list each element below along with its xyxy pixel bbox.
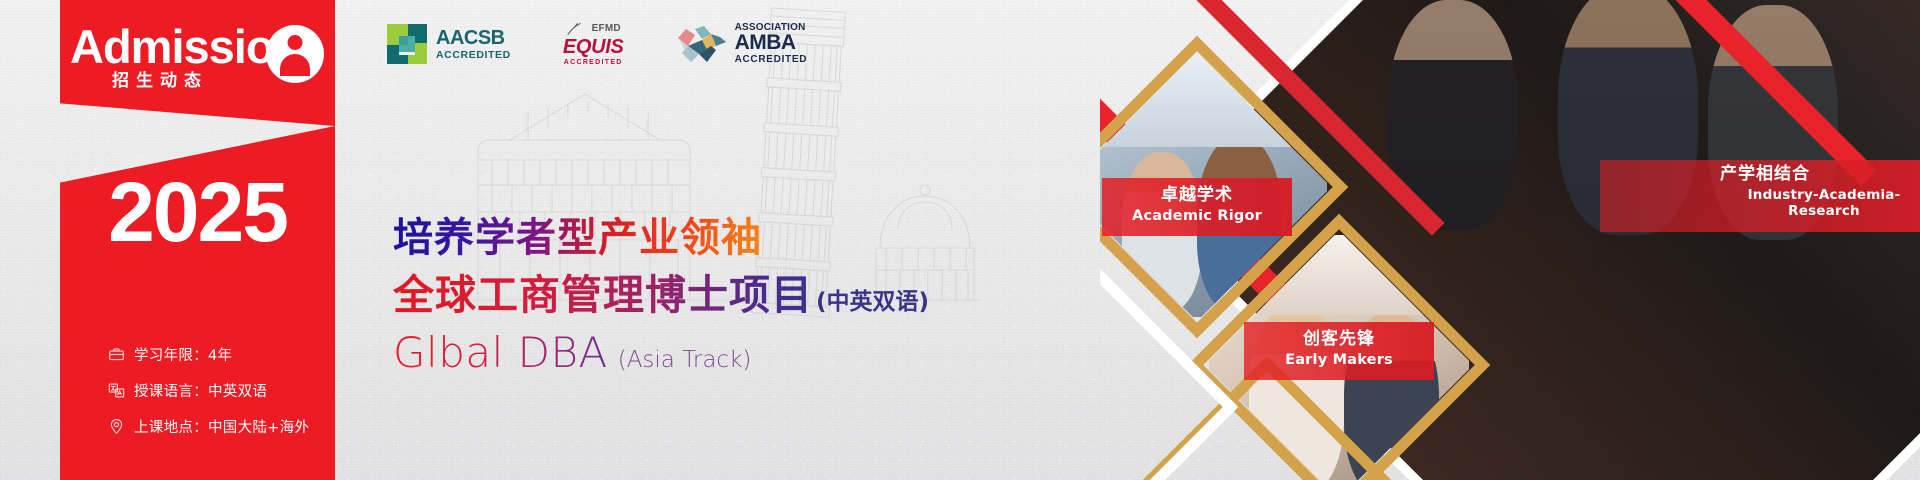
tagline: 培养学者型产业领袖 <box>393 215 929 261</box>
location-pin-icon <box>108 418 125 435</box>
photo-collage: 产学相结合 Industry-Academia-Research 卓越学术 Ac… <box>1100 0 1920 480</box>
program-title-cn-paren: (中英双语) <box>816 282 929 316</box>
program-title-cn: 全球工商管理博士项目 <box>393 271 813 319</box>
aacsb-name: AACSB <box>436 28 511 48</box>
label-industry-cn: 产学相结合 <box>1600 164 1920 185</box>
program-title-en: Glbal DBA <box>393 331 608 375</box>
admission-banner: Admission 招生动态 2025 学习年限：4年 <box>0 0 1920 480</box>
admission-logo: Admission 招生动态 <box>60 22 335 102</box>
program-title-en-sub: (Asia Track) <box>618 347 752 373</box>
info-row-duration: 学习年限：4年 <box>60 336 335 372</box>
label-makers-cn: 创客先锋 <box>1244 329 1434 350</box>
aacsb-sub: ACCREDITED <box>436 50 511 61</box>
headline-block: 培养学者型产业领袖 全球工商管理博士项目 (中英双语) Glbal DBA (A… <box>393 215 929 375</box>
amba-diamond-icon <box>676 24 728 64</box>
left-red-panel: Admission 招生动态 2025 学习年限：4年 <box>60 0 335 480</box>
label-early-makers: 创客先锋 Early Makers <box>1244 329 1434 369</box>
amba-sub: ACCREDITED <box>735 55 808 65</box>
efmd-swoosh-icon <box>566 22 588 36</box>
efmd-name: EFMD <box>592 24 621 34</box>
person-avatar-icon <box>266 25 324 83</box>
accreditation-amba: ASSOCIATION AMBA ACCREDITED <box>676 23 808 65</box>
equis-sub: ACCREDITED <box>564 59 623 66</box>
translate-icon <box>108 382 125 399</box>
equis-name: EQUIS <box>563 37 624 57</box>
info-row-location: 上课地点：中国大陆+海外 <box>60 408 335 444</box>
amba-name: AMBA <box>735 32 808 53</box>
label-industry-academia: 产学相结合 Industry-Academia-Research <box>1600 164 1920 220</box>
title-en-row: Glbal DBA (Asia Track) <box>393 331 929 375</box>
info-text-language: 授课语言：中英双语 <box>134 380 267 401</box>
info-text-location: 上课地点：中国大陆+海外 <box>134 416 309 437</box>
logo-cn-text: 招生动态 <box>112 66 208 91</box>
info-row-language: 授课语言：中英双语 <box>60 372 335 408</box>
year-label: 2025 <box>60 170 335 254</box>
label-academic-cn: 卓越学术 <box>1102 185 1292 206</box>
briefcase-icon <box>108 346 125 363</box>
label-makers-en: Early Makers <box>1244 351 1434 369</box>
title-cn-row: 全球工商管理博士项目 (中英双语) <box>393 271 929 319</box>
accreditation-aacsb: AACSB ACCREDITED <box>385 22 511 66</box>
accreditation-logos: AACSB ACCREDITED EFMD EQUIS ACCREDITED <box>385 22 807 66</box>
label-academic-en: Academic Rigor <box>1102 207 1292 225</box>
accreditation-equis: EFMD EQUIS ACCREDITED <box>563 22 624 66</box>
info-text-duration: 学习年限：4年 <box>134 344 232 365</box>
label-industry-en: Industry-Academia-Research <box>1730 187 1920 219</box>
program-info-list: 学习年限：4年 授课语言：中英双语 上课地点：中国大陆+海外 <box>60 336 335 444</box>
aacsb-cube-icon <box>385 22 429 66</box>
label-academic-rigor: 卓越学术 Academic Rigor <box>1102 185 1292 225</box>
